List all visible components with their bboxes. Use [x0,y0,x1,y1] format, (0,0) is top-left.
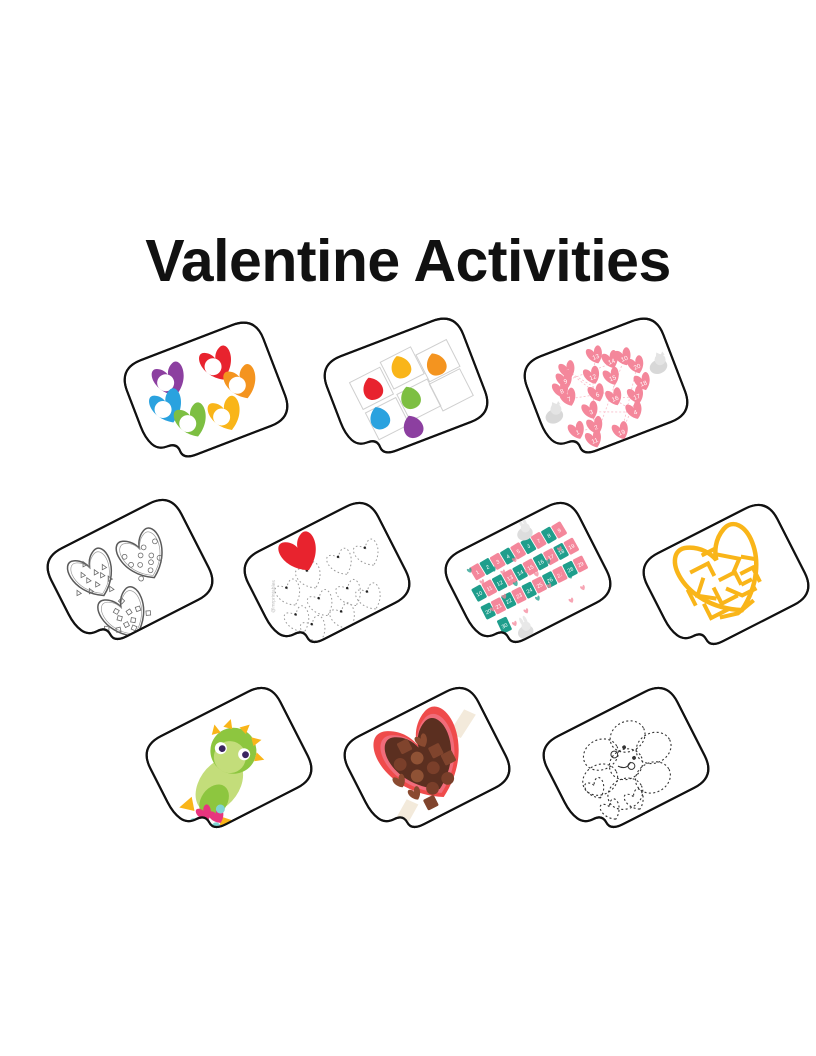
card-outline [118,316,293,469]
shape-hearts-coloring-card[interactable] [38,490,222,658]
worksheet-page: Valentine Activities 1234567891011121314… [0,0,816,1056]
flower-tracing-card[interactable] [534,678,718,846]
activity-card-grid: 1234567891011121314151617181920@mrprinta… [0,0,816,1056]
numbered-hearts-card[interactable]: 1234567891011121314151617181920 [516,310,696,468]
colored-hearts-card[interactable] [116,314,296,472]
card-outline [518,312,693,465]
card-outline [40,493,219,656]
heart-maze-card[interactable] [634,495,816,663]
heart-tracing-card[interactable]: @mrprintables [235,493,419,661]
chocolate-box-card[interactable] [335,678,519,846]
card-outline [237,496,416,659]
svg-text:@mrprintables: @mrprintables [270,580,277,613]
dragon-character-card[interactable] [137,678,321,846]
card-outline [536,681,715,844]
board-game-card[interactable]: 1234567891011121314151617181920212223242… [436,493,620,661]
half-hearts-grid-card[interactable] [316,310,496,468]
